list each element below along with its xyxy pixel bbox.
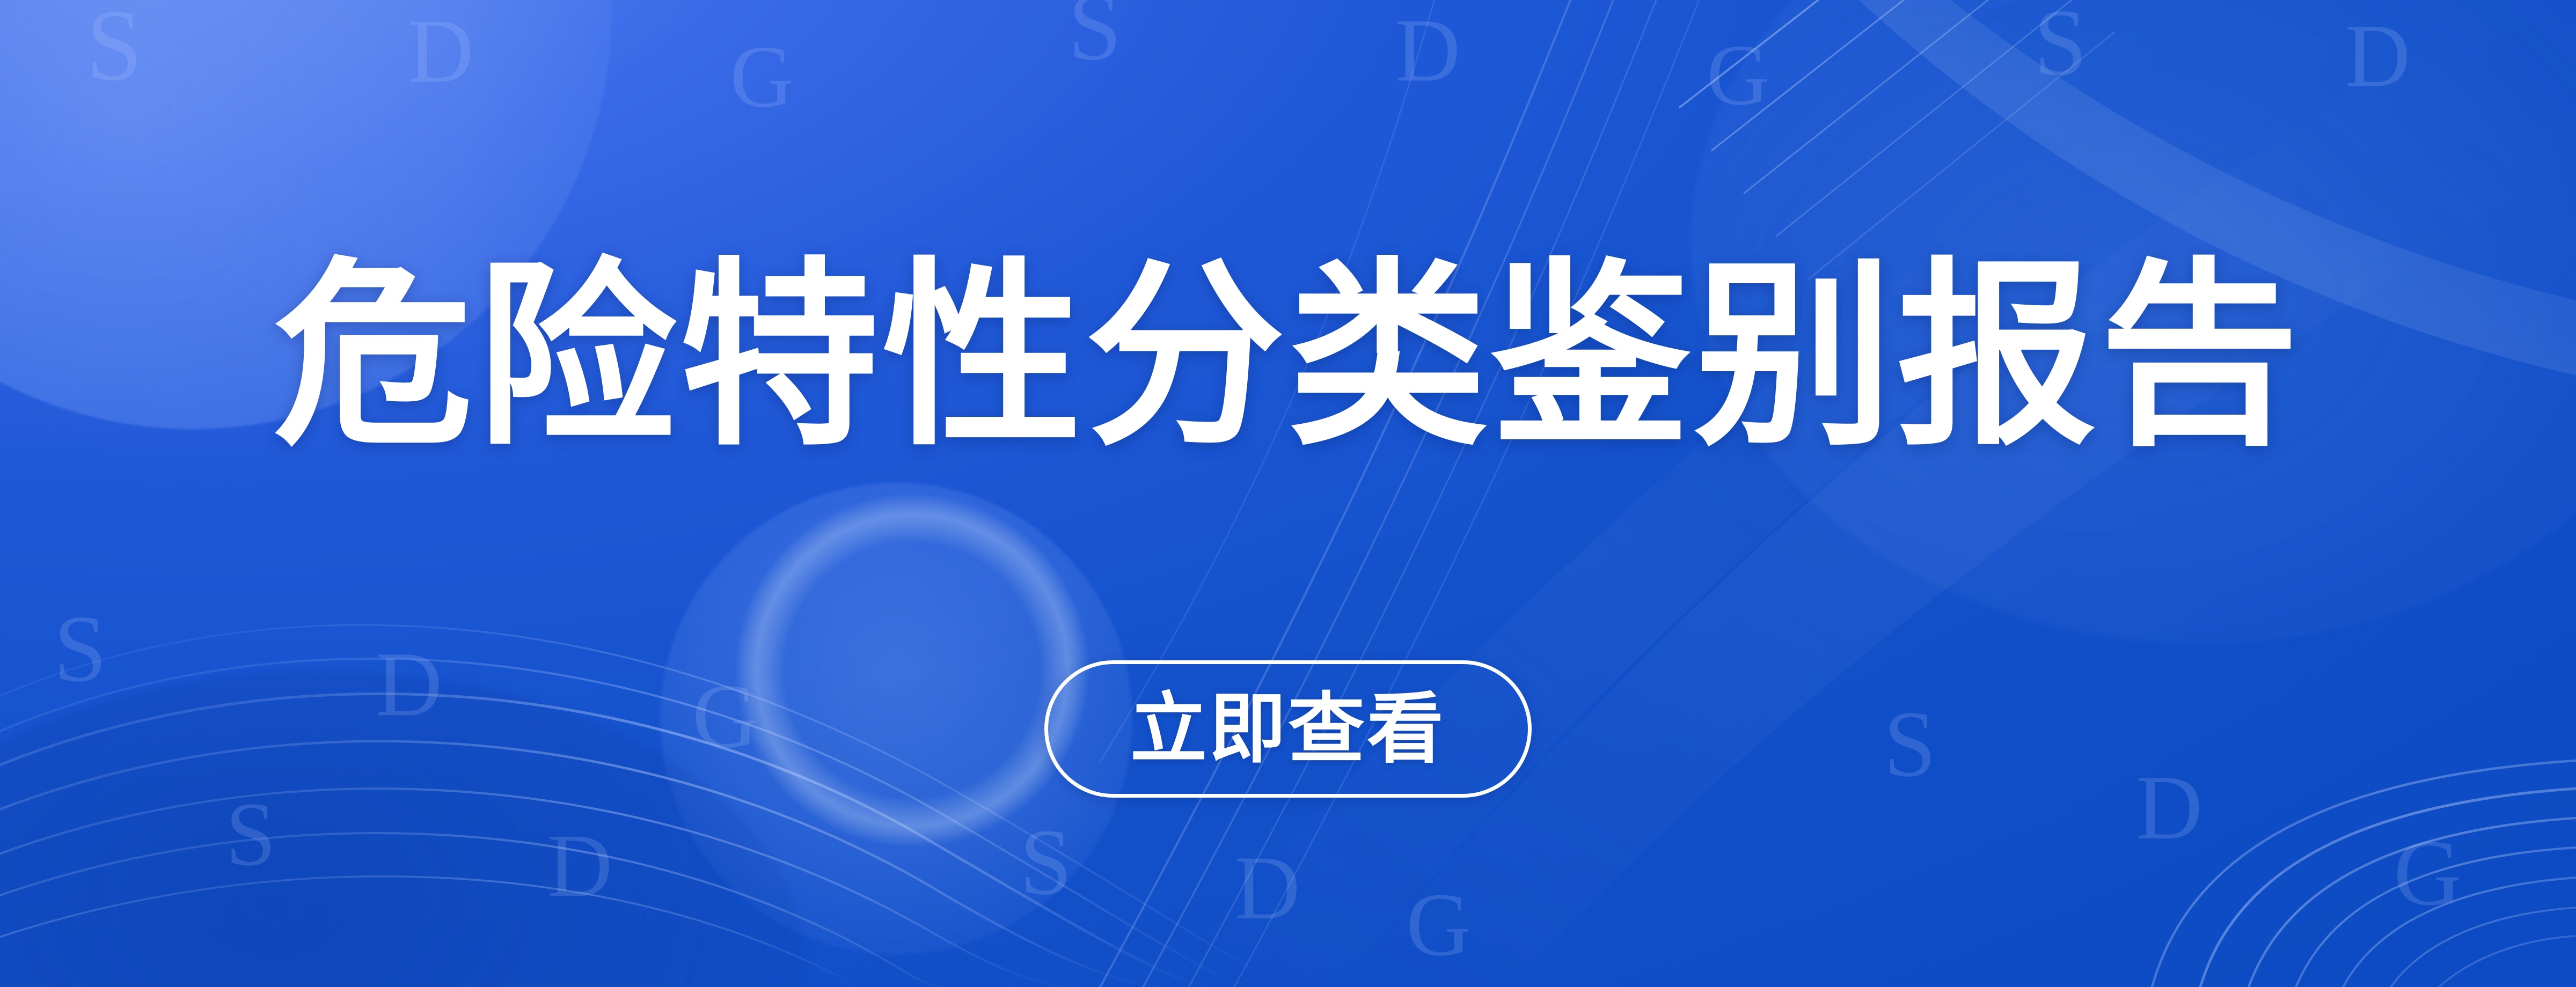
view-now-button[interactable]: 立即查看	[1044, 660, 1532, 798]
banner-content: 危险特性分类鉴别报告 立即查看	[0, 0, 2576, 987]
view-now-button-label: 立即查看	[1130, 691, 1446, 768]
hazard-report-banner: SDGSDGSDSDGSDGSDGSD 危险特性分类鉴别报告 立即查看	[0, 0, 2576, 987]
page-title: 危险特性分类鉴别报告	[274, 256, 2302, 456]
